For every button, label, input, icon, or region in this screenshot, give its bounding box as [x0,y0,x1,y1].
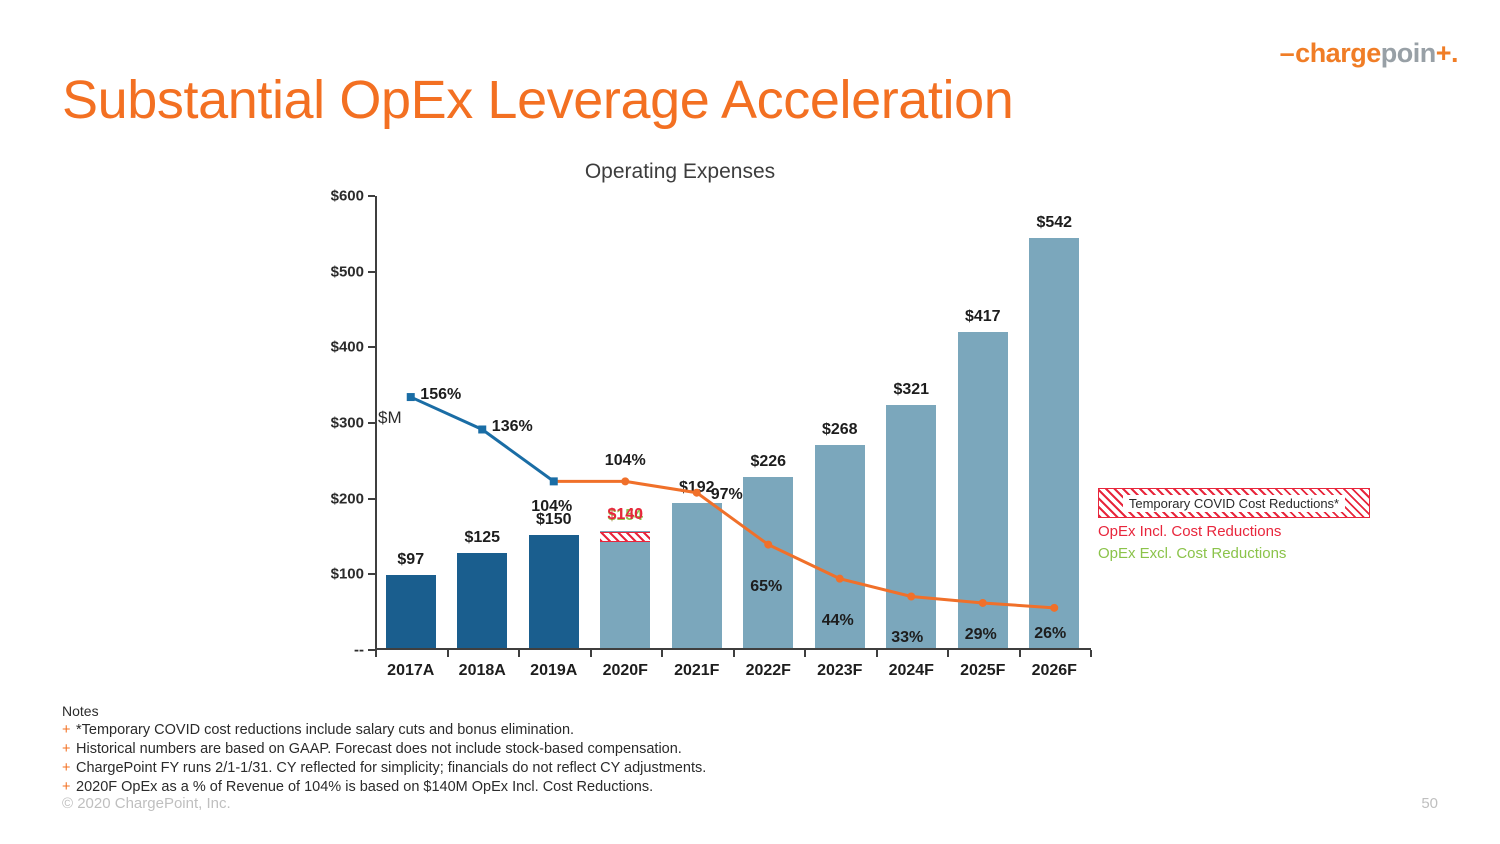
note-text: ChargePoint FY runs 2/1-1/31. CY reflect… [76,759,706,778]
x-tick-mark [804,650,806,657]
note-item: +*Temporary COVID cost reductions includ… [62,721,1162,740]
line-marker-2020F [621,477,629,485]
line-marker-2021F [693,489,701,497]
x-tick-label-2025F: 2025F [960,662,1005,680]
y-tick-mark [368,573,375,575]
y-tick-mark [368,422,375,424]
y-tick-label: $300 [331,415,364,432]
y-tick-label: $500 [331,263,364,280]
notes-list: +*Temporary COVID cost reductions includ… [62,721,1162,797]
x-tick-mark [447,650,449,657]
x-tick-label-2020F: 2020F [603,662,648,680]
x-tick-mark [1090,650,1092,657]
chart-plot-area: $M --$100$200$300$400$500$600 $97$125$15… [375,196,1090,650]
operating-expenses-chart: Operating Expenses $M --$100$200$300$400… [250,160,1110,680]
x-tick-mark [733,650,735,657]
x-tick-mark [947,650,949,657]
legend-label-covid-reductions: Temporary COVID Cost Reductions* [1123,495,1345,512]
line-marker-2026F [1050,604,1058,612]
legend-label-opex-excl: OpEx Excl. Cost Reductions [1098,545,1370,562]
x-tick-mark [590,650,592,657]
y-tick-label: -- [354,642,364,659]
percent-label-2024F: 33% [891,629,923,647]
y-tick-label: $200 [331,490,364,507]
note-item: +Historical numbers are based on GAAP. F… [62,740,1162,759]
y-tick-mark [368,271,375,273]
line-marker-2022F [764,541,772,549]
x-tick-label-2018A: 2018A [459,662,506,680]
y-tick-mark [368,649,375,651]
x-tick-label-2024F: 2024F [889,662,934,680]
line-marker-2018A [478,425,486,433]
percent-label-2025F: 29% [965,626,997,644]
notes-heading: Notes [62,703,1162,719]
percent-label-2026F: 26% [1034,625,1066,643]
x-tick-mark [518,650,520,657]
y-tick-label: $400 [331,339,364,356]
line-marker-2024F [907,592,915,600]
percent-label-2021F: 97% [711,486,743,504]
y-tick-label: $100 [331,566,364,583]
note-bullet-icon: + [62,740,76,759]
chargepoint-logo: –chargepoin+. [1280,38,1458,69]
percent-label-2018A: 136% [492,418,533,436]
footer-copyright: © 2020 ChargePoint, Inc. [62,795,231,812]
x-tick-label-2019A: 2019A [530,662,577,680]
y-tick-label: $600 [331,188,364,205]
x-tick-mark [661,650,663,657]
note-text: *Temporary COVID cost reductions include… [76,721,574,740]
x-tick-label-2026F: 2026F [1032,662,1077,680]
y-tick-mark [368,498,375,500]
note-item: +ChargePoint FY runs 2/1-1/31. CY reflec… [62,759,1162,778]
x-tick-mark [1019,650,1021,657]
x-tick-label-2017A: 2017A [387,662,434,680]
line-marker-2025F [979,599,987,607]
percent-label-2020F: 104% [605,452,646,470]
x-tick-label-2023F: 2023F [817,662,862,680]
line-segment-forecast [554,481,1055,607]
logo-plus-icon: + [1436,38,1451,69]
percent-label-2022F: 65% [750,578,782,596]
logo-dash: – [1280,38,1295,69]
note-bullet-icon: + [62,759,76,778]
footer-page-number: 50 [1421,795,1438,812]
line-marker-2017A [407,393,415,401]
legend-swatch-covid-reductions: Temporary COVID Cost Reductions* [1098,488,1370,518]
page-title: Substantial OpEx Leverage Acceleration [62,69,1013,131]
y-tick-mark [368,195,375,197]
chart-legend: Temporary COVID Cost Reductions* OpEx In… [1098,488,1370,562]
x-tick-label-2022F: 2022F [746,662,791,680]
percent-label-2017A: 156% [420,386,461,404]
y-tick-mark [368,346,375,348]
x-tick-label-2021F: 2021F [674,662,719,680]
percent-of-revenue-line [375,196,1091,651]
legend-label-opex-incl: OpEx Incl. Cost Reductions [1098,523,1370,540]
logo-point-text: poin [1381,38,1436,69]
percent-label-2019A: 104% [531,498,572,516]
percent-label-2023F: 44% [822,612,854,630]
chart-title: Operating Expenses [250,160,1110,184]
line-marker-2019A [550,477,558,485]
x-tick-mark [375,650,377,657]
logo-charge-text: charge [1295,38,1381,69]
x-tick-mark [876,650,878,657]
line-segment-historical [411,397,554,481]
line-marker-2023F [836,575,844,583]
notes-section: Notes +*Temporary COVID cost reductions … [62,703,1162,797]
note-text: Historical numbers are based on GAAP. Fo… [76,740,682,759]
note-bullet-icon: + [62,721,76,740]
logo-dot: . [1451,38,1458,69]
